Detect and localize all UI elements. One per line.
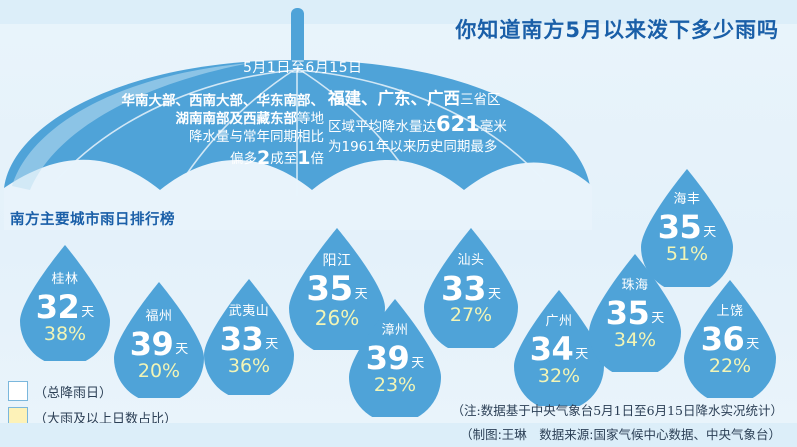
droplet-days-value: 35 bbox=[606, 294, 650, 332]
right-info-line2-post: 毫米 bbox=[480, 119, 507, 135]
droplet-days-value: 35 bbox=[658, 208, 702, 246]
right-info-line1: 福建、广东、广西三省区 bbox=[328, 88, 578, 110]
droplet-days-value: 32 bbox=[36, 288, 80, 326]
droplet-days-row: 33天 bbox=[200, 323, 298, 355]
droplet-days-value: 39 bbox=[130, 325, 174, 363]
left-info-line2-rest: 等地 bbox=[297, 111, 324, 127]
droplet-days-row: 35天 bbox=[637, 211, 737, 243]
right-info-rainfall-value: 621 bbox=[436, 112, 480, 136]
left-info-line2-bold: 湖南南部及西藏东部 bbox=[176, 111, 298, 127]
droplet-days-value: 34 bbox=[530, 330, 574, 368]
droplet-city-label: 福州 bbox=[110, 310, 208, 323]
droplet-guilin[interactable]: 桂林 32天 38% bbox=[16, 243, 114, 361]
left-info-line4-post: 倍 bbox=[311, 151, 325, 167]
droplet-percent: 36% bbox=[200, 357, 298, 376]
ranking-title: 南方主要城市雨日排行榜 bbox=[10, 208, 175, 229]
droplet-days-row: 35天 bbox=[585, 297, 685, 329]
droplet-percent: 34% bbox=[585, 331, 685, 350]
droplet-city-label: 海丰 bbox=[637, 193, 737, 206]
droplet-city-label: 阳江 bbox=[285, 254, 389, 268]
droplet-days-unit: 天 bbox=[488, 287, 501, 302]
right-info-line1-rest: 三省区 bbox=[460, 92, 501, 108]
droplet-haifeng[interactable]: 海丰 35天 51% bbox=[637, 167, 737, 287]
droplet-city-label: 武夷山 bbox=[200, 305, 298, 318]
droplet-shangrao[interactable]: 上饶 36天 22% bbox=[680, 278, 780, 398]
legend-swatch-white bbox=[8, 381, 28, 401]
droplet-percent: 38% bbox=[16, 325, 114, 344]
droplet-percent: 51% bbox=[637, 245, 737, 264]
droplet-days-row: 32天 bbox=[16, 291, 114, 323]
droplet-days-unit: 天 bbox=[81, 305, 94, 320]
left-info-line4-mid: 成至 bbox=[270, 151, 297, 167]
left-info-line4-pre: 偏多 bbox=[230, 151, 257, 167]
droplet-days-value: 33 bbox=[220, 320, 264, 358]
droplet-percent: 27% bbox=[420, 306, 522, 325]
left-info-num-2: 2 bbox=[257, 147, 270, 169]
droplet-days-row: 36天 bbox=[680, 323, 780, 355]
right-info-line3: 为1961年以来历史同期最多 bbox=[328, 138, 578, 156]
droplet-days-value: 39 bbox=[366, 339, 410, 377]
source-note: （注:数据基于中央气象台5月1日至6月15日降水实况统计） bbox=[452, 400, 783, 419]
droplet-days-value: 33 bbox=[441, 269, 486, 308]
droplet-days-unit: 天 bbox=[746, 337, 759, 352]
droplet-shantou[interactable]: 汕头 33天 27% bbox=[420, 226, 522, 348]
droplet-days-unit: 天 bbox=[703, 225, 716, 240]
droplet-percent: 22% bbox=[680, 357, 780, 376]
legend-item-total-rain-days: （总降雨日） bbox=[8, 378, 177, 404]
droplet-city-label: 上饶 bbox=[680, 305, 780, 318]
droplet-wuyishan[interactable]: 武夷山 33天 36% bbox=[200, 277, 298, 395]
left-info-line3: 降水量与常年同期相比 bbox=[62, 128, 324, 146]
infographic-root: 你知道南方5月以来泼下多少雨吗 5月1日至6月15日 华南大部、西南大部、华东南… bbox=[0, 0, 797, 447]
droplet-percent: 23% bbox=[345, 376, 445, 395]
droplet-days-unit: 天 bbox=[265, 337, 278, 352]
left-info-line2: 湖南南部及西藏东部等地 bbox=[62, 110, 324, 128]
right-info-provinces: 福建、广东、广西 bbox=[328, 89, 460, 108]
droplet-city-label: 桂林 bbox=[16, 273, 114, 286]
legend-label: （总降雨日） bbox=[34, 382, 112, 401]
droplet-days-value: 36 bbox=[701, 320, 745, 358]
droplet-days-row: 33天 bbox=[420, 272, 522, 305]
left-info-num-1: 1 bbox=[297, 147, 310, 169]
droplet-days-unit: 天 bbox=[651, 311, 664, 326]
right-info-line2: 区域平均降水量达621毫米 bbox=[328, 110, 578, 138]
droplet-days-row: 39天 bbox=[110, 328, 208, 360]
credit-line: （制图:王琳 数据来源:国家气候中心数据、中央气象台） bbox=[460, 424, 781, 443]
umbrella-right-info: 福建、广东、广西三省区 区域平均降水量达621毫米 为1961年以来历史同期最多 bbox=[328, 88, 578, 156]
left-info-line1: 华南大部、西南大部、华东南部、 bbox=[62, 92, 324, 110]
droplet-days-unit: 天 bbox=[411, 356, 424, 371]
droplet-city-label: 汕头 bbox=[420, 254, 522, 267]
right-info-line2-pre: 区域平均降水量达 bbox=[328, 119, 436, 135]
droplet-days-unit: 天 bbox=[175, 342, 188, 357]
umbrella-left-info: 华南大部、西南大部、华东南部、 湖南南部及西藏东部等地 降水量与常年同期相比 偏… bbox=[62, 92, 324, 172]
left-info-line4: 偏多2成至1倍 bbox=[62, 146, 324, 171]
umbrella-date-label: 5月1日至6月15日 bbox=[243, 57, 363, 77]
